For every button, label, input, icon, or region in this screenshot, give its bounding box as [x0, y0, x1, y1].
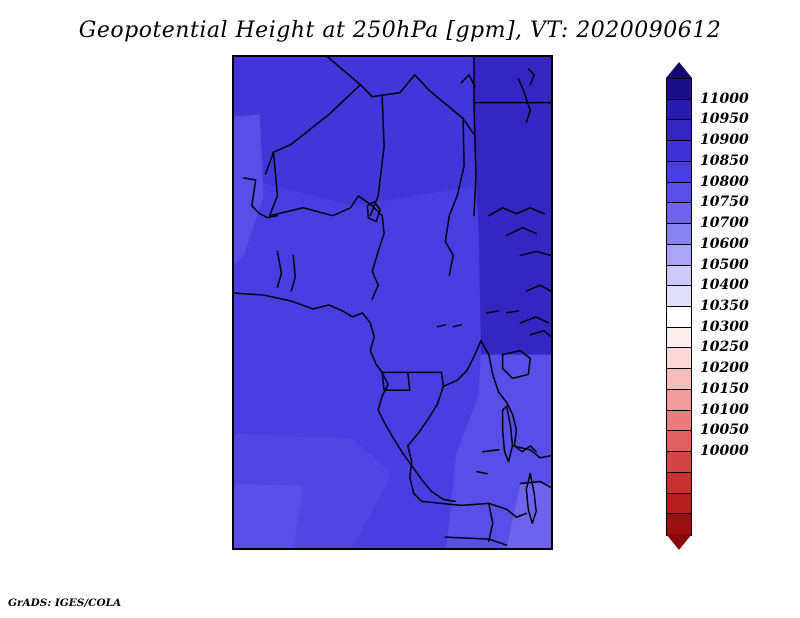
colorbar-tick-label: 10700: [700, 215, 749, 231]
colorbar-segment: [666, 285, 692, 307]
y-axis-tick: [232, 214, 234, 216]
colorbar-segment: [666, 451, 692, 473]
y-axis-tick: [232, 447, 234, 449]
colorbar-tick-label: 10250: [700, 339, 749, 355]
colorbar-tick-label: 11000: [700, 91, 749, 107]
colorbar-segment: [666, 410, 692, 432]
colorbar-segment: [666, 472, 692, 494]
colorbar-tick-label: 10000: [700, 443, 749, 459]
colorbar-arrow-min: [666, 534, 692, 550]
x-axis-tick: [395, 548, 397, 550]
colorbar-tick-label: 10850: [700, 153, 749, 169]
colorbar-segment: [666, 430, 692, 452]
credit-label: GrADS: IGES/COLA: [8, 597, 121, 609]
colorbar-tick-label: 10150: [700, 381, 749, 397]
colorbar-segment: [666, 202, 692, 224]
y-axis-tick: [232, 272, 234, 274]
map-canvas: [234, 57, 551, 548]
colorbar-segment: [666, 99, 692, 121]
colorbar-segment: [666, 493, 692, 515]
colorbar-tick-label: 10200: [700, 360, 749, 376]
x-axis-tick: [367, 548, 369, 550]
y-axis-tick: [232, 389, 234, 391]
map-plot-area: 20N15N10N5NEQ5S10S15S3E6E9E12E15E18E21E2…: [232, 55, 553, 550]
colorbar-segment: [666, 327, 692, 349]
colorbar-tick-label: 10950: [700, 111, 749, 127]
x-axis-tick: [532, 548, 534, 550]
x-axis-tick: [505, 548, 507, 550]
colorbar-tick-label: 10300: [700, 319, 749, 335]
x-axis-tick: [450, 548, 452, 550]
page-title: Geopotential Height at 250hPa [gpm], VT:…: [0, 18, 800, 43]
colorbar-segment: [666, 306, 692, 328]
colorbar-segment: [666, 244, 692, 266]
colorbar-segment: [666, 140, 692, 162]
y-axis-tick: [232, 156, 234, 158]
colorbar-tick-label: 10350: [700, 298, 749, 314]
colorbar-tick-label: 10800: [700, 174, 749, 190]
colorbar-tick-label: 10500: [700, 257, 749, 273]
y-axis-tick: [232, 98, 234, 100]
colorbar-segment: [666, 513, 692, 535]
y-axis-tick: [232, 505, 234, 507]
colorbar-segment: [666, 389, 692, 411]
colorbar-tick-label: 10750: [700, 194, 749, 210]
colorbar-tick-label: 10050: [700, 422, 749, 438]
colorbar-segment: [666, 161, 692, 183]
colorbar-segment: [666, 368, 692, 390]
colorbar-tick-label: 10900: [700, 132, 749, 148]
colorbar-segment: [666, 182, 692, 204]
colorbar-segment: [666, 265, 692, 287]
colorbar-tick-label: 10600: [700, 236, 749, 252]
x-axis-tick: [312, 548, 314, 550]
colorbar-segment: [666, 78, 692, 100]
x-axis-tick: [339, 548, 341, 550]
y-axis-tick: [232, 331, 234, 333]
colorbar: 1100010950109001085010800107501070010600…: [666, 62, 692, 550]
x-axis-tick: [284, 548, 286, 550]
colorbar-segment: [666, 347, 692, 369]
colorbar-tick-label: 10400: [700, 277, 749, 293]
colorbar-arrow-max: [666, 62, 692, 78]
colorbar-segment: [666, 119, 692, 141]
colorbar-tick-label: 10100: [700, 402, 749, 418]
x-axis-tick: [257, 548, 259, 550]
x-axis-tick: [422, 548, 424, 550]
x-axis-tick: [477, 548, 479, 550]
colorbar-segment: [666, 223, 692, 245]
